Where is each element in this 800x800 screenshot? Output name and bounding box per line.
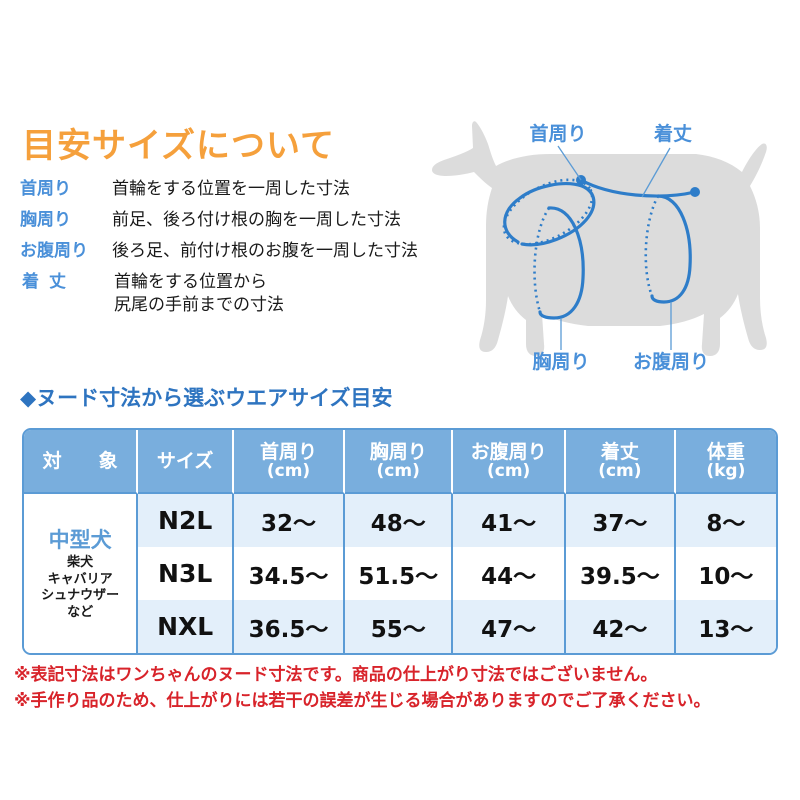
length-end-dot	[690, 187, 700, 197]
legend-term-neck: 首周り	[20, 178, 112, 201]
column-header-length-unit: (cm)	[566, 462, 674, 480]
column-header-neck-label: 首周り	[260, 441, 317, 463]
footnote-handmade-tolerance: ※手作り品のため、仕上がりには若干の誤差が生じる場合がありますのでご了承ください…	[14, 688, 794, 714]
cell-weight: 8〜	[676, 494, 776, 547]
cell-neck: 34.5〜	[234, 547, 345, 600]
legend-item: 首周り 首輪をする位置を一周した寸法	[20, 178, 490, 201]
figure-label-chest: 胸周り	[532, 350, 589, 373]
cell-size: N3L	[138, 547, 234, 600]
legend-term-chest: 胸周り	[20, 209, 112, 232]
column-header-weight: 体重 (kg)	[676, 430, 776, 494]
column-header-weight-label: 体重	[707, 441, 745, 463]
column-header-length-label: 着丈	[601, 441, 639, 463]
column-header-belly-unit: (cm)	[453, 462, 564, 480]
legend-desc-length: 首輪をする位置から 尻尾の手前までの寸法	[114, 271, 284, 317]
cell-size: NXL	[138, 600, 234, 653]
figure-label-length: 着丈	[654, 122, 692, 145]
column-header-target: 対 象	[24, 430, 138, 494]
section-heading: ◆ヌード寸法から選ぶウエアサイズ目安	[20, 382, 393, 412]
legend-item: お腹周り 後ろ足、前付け根のお腹を一周した寸法	[20, 240, 490, 263]
size-table-container: 対 象 サイズ 首周り (cm) 胸周り (cm) お腹周り (cm)	[22, 428, 778, 655]
column-header-size: サイズ	[138, 430, 234, 494]
page-title: 目安サイズについて	[22, 118, 335, 167]
size-table: 対 象 サイズ 首周り (cm) 胸周り (cm) お腹周り (cm)	[22, 428, 778, 655]
column-header-neck-unit: (cm)	[234, 462, 343, 480]
target-category: 中型犬	[24, 526, 136, 555]
cell-chest: 55〜	[345, 600, 453, 653]
cell-weight: 10〜	[676, 547, 776, 600]
cell-neck: 36.5〜	[234, 600, 345, 653]
legend-item: 胸周り 前足、後ろ付け根の胸を一周した寸法	[20, 209, 490, 232]
legend-desc-chest: 前足、後ろ付け根の胸を一周した寸法	[112, 209, 401, 232]
figure-label-belly: お腹周り	[633, 350, 709, 373]
dog-measurement-diagram: 首周り 着丈 胸周り お腹周り	[430, 100, 800, 380]
cell-length: 37〜	[566, 494, 676, 547]
column-header-target-label: 対 象	[34, 450, 127, 472]
cell-chest: 51.5〜	[345, 547, 453, 600]
target-cell: 中型犬 柴犬 キャバリア シュナウザー など	[24, 494, 138, 653]
column-header-chest-label: 胸周り	[370, 441, 427, 463]
cell-length: 42〜	[566, 600, 676, 653]
column-header-chest-unit: (cm)	[345, 462, 451, 480]
cell-length: 39.5〜	[566, 547, 676, 600]
column-header-chest: 胸周り (cm)	[345, 430, 453, 494]
column-header-weight-unit: (kg)	[676, 462, 776, 480]
cell-size: N2L	[138, 494, 234, 547]
legend-term-belly: お腹周り	[20, 240, 112, 263]
column-header-length: 着丈 (cm)	[566, 430, 676, 494]
legend-desc-neck: 首輪をする位置を一周した寸法	[112, 178, 350, 201]
table-header-row: 対 象 サイズ 首周り (cm) 胸周り (cm) お腹周り (cm)	[24, 430, 776, 494]
column-header-neck: 首周り (cm)	[234, 430, 345, 494]
cell-belly: 44〜	[453, 547, 566, 600]
cell-belly: 47〜	[453, 600, 566, 653]
cell-neck: 32〜	[234, 494, 345, 547]
footnote-nude-measurement: ※表記寸法はワンちゃんのヌード寸法です。商品の仕上がり寸法ではございません。	[14, 662, 794, 688]
cell-weight: 13〜	[676, 600, 776, 653]
legend-term-length: 着丈	[20, 271, 114, 294]
footnotes: ※表記寸法はワンちゃんのヌード寸法です。商品の仕上がり寸法ではございません。 ※…	[14, 662, 794, 715]
column-header-belly: お腹周り (cm)	[453, 430, 566, 494]
column-header-size-label: サイズ	[157, 450, 213, 472]
cell-chest: 48〜	[345, 494, 453, 547]
figure-label-neck: 首周り	[529, 122, 586, 145]
cell-belly: 41〜	[453, 494, 566, 547]
legend-desc-belly: 後ろ足、前付け根のお腹を一周した寸法	[112, 240, 418, 263]
dog-silhouette-icon	[432, 121, 767, 356]
column-header-belly-label: お腹周り	[471, 441, 547, 463]
table-row: 中型犬 柴犬 キャバリア シュナウザー など N2L 32〜 48〜 41〜 3…	[24, 494, 776, 547]
legend-item: 着丈 首輪をする位置から 尻尾の手前までの寸法	[20, 271, 490, 317]
measurement-legend: 首周り 首輪をする位置を一周した寸法 胸周り 前足、後ろ付け根の胸を一周した寸法…	[20, 178, 490, 325]
target-breeds: 柴犬 キャバリア シュナウザー など	[24, 555, 136, 622]
